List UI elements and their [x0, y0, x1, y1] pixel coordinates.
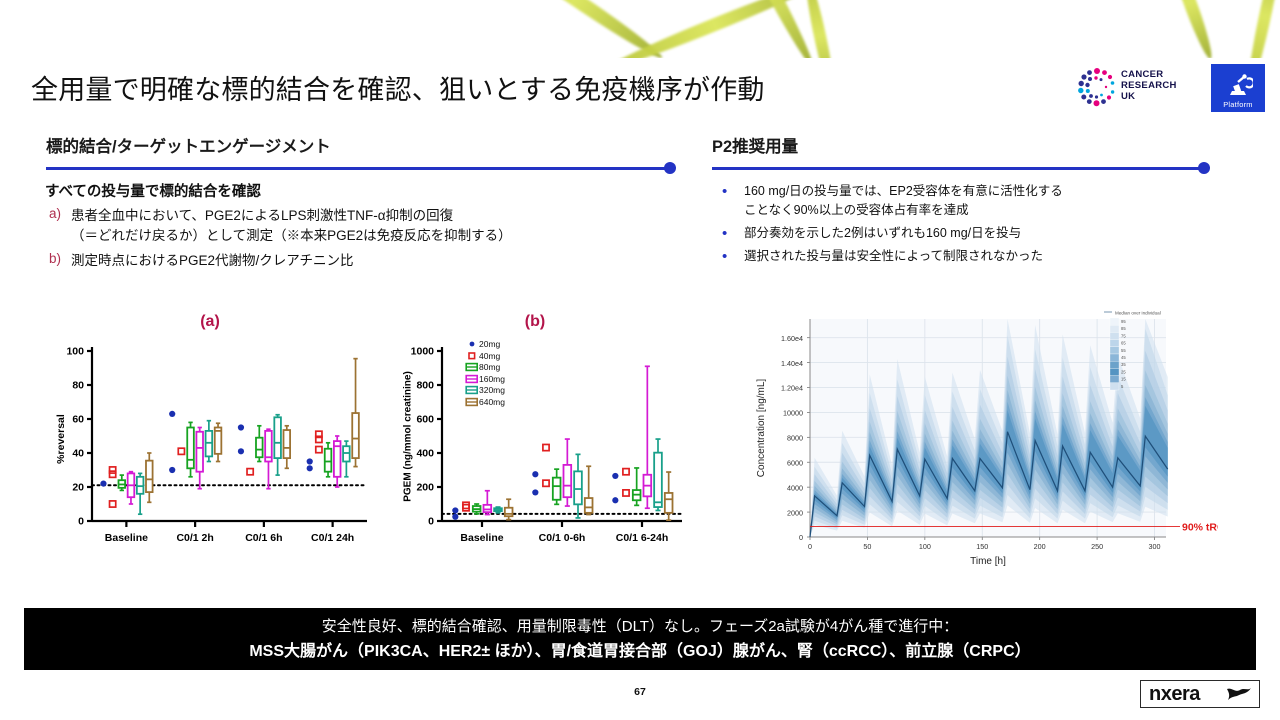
chart-a-title: (a) [45, 313, 375, 331]
chart-b-title: (b) [380, 313, 690, 331]
platform-label: Platform [1223, 100, 1253, 109]
section-header-target-engagement: 標的結合/ターゲットエンゲージメント [46, 133, 676, 174]
top-banner-image [0, 0, 1280, 58]
nxera-logo: nxera [1140, 680, 1260, 708]
svg-text:95: 95 [1121, 319, 1126, 324]
legend-label: 40mg [479, 351, 500, 361]
section-header-p2-dose: P2推奨用量 [712, 133, 1210, 174]
svg-text:Baseline: Baseline [460, 532, 503, 544]
list-item-text: 患者全血中において、PGE2によるLPS刺激性TNF-α抑制の回復 （＝どれだけ… [71, 206, 512, 246]
legend-label: 320mg [479, 385, 505, 395]
legend-item: 80mg [465, 362, 505, 372]
section-left-rule [46, 162, 676, 174]
svg-text:C0/1 6-24h: C0/1 6-24h [616, 532, 669, 544]
svg-text:75: 75 [1121, 333, 1126, 338]
svg-text:0: 0 [78, 516, 84, 528]
svg-text:0: 0 [808, 542, 812, 551]
svg-text:8000: 8000 [787, 434, 803, 443]
chart-c-xlabel: Time [h] [970, 556, 1006, 567]
chart-c-panel: 02000400060008000100001.20e41.40e41.60e4… [748, 305, 1218, 577]
legend-swatch-40mg [465, 351, 479, 361]
legend-item: 40mg [465, 351, 505, 361]
list-marker: a) [45, 206, 71, 246]
chart-a-ylabel: %reversal [55, 399, 67, 479]
svg-text:600: 600 [416, 414, 434, 426]
page-number: 67 [0, 686, 1280, 698]
svg-text:40: 40 [72, 448, 84, 460]
bullet-icon: • [716, 182, 744, 220]
rule-knob-icon [664, 162, 676, 174]
cruk-wordmark: CANCER RESEARCH UK [1121, 69, 1177, 102]
chart-a-panel: (a) %reversal 020406080100BaselineC0/1 2… [45, 313, 375, 563]
legend-swatch-640mg [465, 397, 479, 407]
platform-badge[interactable]: Platform [1211, 64, 1265, 112]
svg-text:1.20e4: 1.20e4 [781, 384, 803, 393]
chart-c-plot: 02000400060008000100001.20e41.40e41.60e4… [748, 305, 1218, 577]
chart-c-legend-label: Median over individual [1115, 311, 1161, 316]
nxera-swoosh-mark-icon [30, 20, 66, 42]
legend-label: 160mg [479, 374, 505, 384]
svg-text:100: 100 [66, 346, 84, 358]
svg-text:400: 400 [416, 448, 434, 460]
svg-text:C0/1 6h: C0/1 6h [245, 532, 282, 544]
legend-label: 640mg [479, 397, 505, 407]
chart-b-panel: (b) PGEM (ng/mmol creatinine) 0200400600… [380, 313, 690, 563]
svg-text:1000: 1000 [411, 346, 435, 358]
svg-text:2000: 2000 [787, 508, 803, 517]
svg-text:25: 25 [1121, 369, 1126, 374]
robot-arm-icon [1223, 73, 1253, 99]
legend-label: 20mg [479, 339, 500, 349]
chart-a-plot: 020406080100BaselineC0/1 2hC0/1 6hC0/1 2… [45, 313, 375, 563]
bullet-icon: • [716, 224, 744, 243]
list-item: • 160 mg/日の投与量では、EP2受容体を有意に活性化する ことなく90%… [716, 182, 1226, 220]
svg-text:1.40e4: 1.40e4 [781, 359, 803, 368]
list-item: • 選択された投与量は安全性によって制限されなかった [716, 247, 1226, 266]
bullet-icon: • [716, 247, 744, 266]
svg-text:800: 800 [416, 380, 434, 392]
chart-b-legend: 20mg40mg80mg160mg320mg640mg [465, 339, 505, 408]
chart-b-plot: 02004006008001000BaselineC0/1 0-6hC0/1 6… [380, 313, 690, 563]
summary-line-1: 安全性良好、標的結合確認、用量制限毒性（DLT）なし。フェーズ2a試験が4がん種… [322, 614, 959, 639]
legend-swatch-20mg [465, 339, 479, 349]
svg-text:80: 80 [72, 380, 84, 392]
svg-text:100: 100 [919, 542, 931, 551]
svg-text:1.60e4: 1.60e4 [781, 334, 803, 343]
section-right-title: P2推奨用量 [712, 133, 1210, 157]
svg-text:6000: 6000 [787, 458, 803, 467]
section-right-rule [712, 162, 1210, 174]
svg-text:55: 55 [1121, 348, 1126, 353]
svg-text:65: 65 [1121, 341, 1126, 346]
svg-text:0: 0 [799, 533, 803, 542]
svg-text:300: 300 [1149, 542, 1161, 551]
section-left-title: 標的結合/ターゲットエンゲージメント [46, 133, 676, 157]
svg-text:10000: 10000 [783, 409, 803, 418]
legend-swatch-320mg [465, 385, 479, 395]
svg-text:60: 60 [72, 414, 84, 426]
right-content-block: • 160 mg/日の投与量では、EP2受容体を有意に活性化する ことなく90%… [716, 182, 1226, 270]
svg-text:50: 50 [863, 542, 871, 551]
svg-text:45: 45 [1121, 355, 1126, 360]
svg-text:C0/1 0-6h: C0/1 0-6h [539, 532, 586, 544]
svg-text:4000: 4000 [787, 483, 803, 492]
legend-item: 320mg [465, 385, 505, 395]
page-title: 全用量で明確な標的結合を確認、狙いとする免疫機序が作動 [31, 68, 765, 107]
summary-banner: 安全性良好、標的結合確認、用量制限毒性（DLT）なし。フェーズ2a試験が4がん種… [24, 608, 1256, 670]
left-content-block: すべての投与量で標的結合を確認 a) 患者全血中において、PGE2によるLPS刺… [45, 180, 685, 271]
list-item: • 部分奏効を示した2例はいずれも160 mg/日を投与 [716, 224, 1226, 243]
left-body-heading: すべての投与量で標的結合を確認 [45, 180, 685, 201]
list-item-text: 選択された投与量は安全性によって制限されなかった [744, 247, 1043, 266]
svg-text:20: 20 [72, 482, 84, 494]
svg-text:Baseline: Baseline [105, 532, 148, 544]
svg-text:85: 85 [1121, 326, 1126, 331]
svg-text:15: 15 [1121, 377, 1126, 382]
legend-item: 20mg [465, 339, 505, 349]
legend-item: 160mg [465, 374, 505, 384]
list-item-text: 160 mg/日の投与量では、EP2受容体を有意に活性化する ことなく90%以上… [744, 182, 1063, 220]
svg-text:C0/1 24h: C0/1 24h [311, 532, 354, 544]
svg-text:150: 150 [976, 542, 988, 551]
chart-b-ylabel: PGEM (ng/mmol creatinine) [403, 357, 414, 517]
list-item-text: 測定時点におけるPGE2代謝物/クレアチニン比 [71, 251, 354, 271]
list-item-text: 部分奏効を示した2例はいずれも160 mg/日を投与 [744, 224, 1021, 243]
svg-text:0: 0 [428, 516, 434, 528]
list-item: b) 測定時点におけるPGE2代謝物/クレアチニン比 [45, 251, 685, 271]
tro-annotation: 90% tRO [1182, 521, 1218, 533]
legend-item: 640mg [465, 397, 505, 407]
cruk-dot-ring-icon [1077, 67, 1117, 107]
cancer-research-uk-logo: CANCER RESEARCH UK [1077, 66, 1199, 108]
list-marker: b) [45, 251, 71, 271]
legend-label: 80mg [479, 362, 500, 372]
legend-swatch-160mg [465, 374, 479, 384]
nxera-wordmark: nxera [1141, 683, 1200, 706]
rule-knob-icon [1198, 162, 1210, 174]
nxera-swoosh-mark-icon [1226, 686, 1259, 702]
summary-line-2: MSS大腸がん（PIK3CA、HER2± ほか）、胃/食道胃接合部（GOJ）腺が… [249, 639, 1030, 665]
svg-text:35: 35 [1121, 362, 1126, 367]
svg-text:200: 200 [416, 482, 434, 494]
svg-text:C0/1 2h: C0/1 2h [176, 532, 213, 544]
svg-text:250: 250 [1091, 542, 1103, 551]
svg-text:200: 200 [1034, 542, 1046, 551]
legend-swatch-80mg [465, 362, 479, 372]
chart-c-ylabel: Concentration [ng/mL] [756, 379, 767, 478]
list-item: a) 患者全血中において、PGE2によるLPS刺激性TNF-α抑制の回復 （＝ど… [45, 206, 685, 246]
